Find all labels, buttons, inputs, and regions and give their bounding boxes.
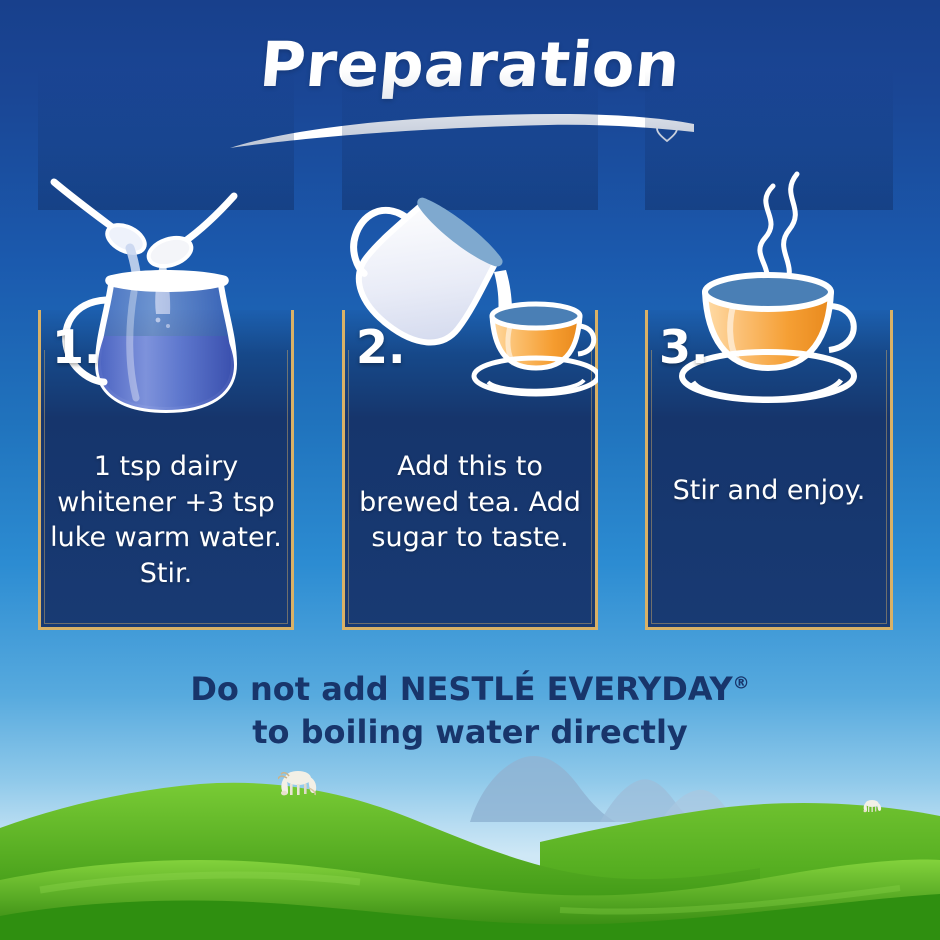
step-2-number: 2. xyxy=(356,320,405,374)
preparation-poster: Preparation xyxy=(0,0,940,940)
warning-prefix: Do not add xyxy=(190,670,399,708)
step-card-3[interactable]: 3. Stir and enjoy. xyxy=(645,160,893,630)
steps-container: 1. 1 tsp dairy whitener +3 tsp luke warm… xyxy=(0,160,940,630)
step-3-number: 3. xyxy=(659,320,708,374)
landscape xyxy=(0,720,940,940)
registered-mark: ® xyxy=(733,673,750,693)
grazing-cow-icon xyxy=(278,766,322,798)
brand-name: NESTLÉ EVERYDAY xyxy=(400,670,733,708)
warning-line-1: Do not add NESTLÉ EVERYDAY® xyxy=(0,668,940,711)
step-2-text: Add this to brewed tea. Add sugar to tas… xyxy=(352,425,588,630)
step-1-number: 1. xyxy=(52,320,101,374)
grazing-cow-icon xyxy=(862,797,884,814)
step-card-1[interactable]: 1. 1 tsp dairy whitener +3 tsp luke warm… xyxy=(38,160,294,630)
jug-with-spoons-icon xyxy=(38,160,294,420)
step-card-2[interactable]: 2. Add this to brewed tea. Add sugar to … xyxy=(342,160,598,630)
pouring-milk-into-teacup-icon xyxy=(342,160,598,420)
green-rolling-hills-icon xyxy=(0,770,940,940)
step-3-text: Stir and enjoy. xyxy=(655,425,883,630)
steaming-teacup-icon xyxy=(645,160,893,420)
step-1-text: 1 tsp dairy whitener +3 tsp luke warm wa… xyxy=(48,425,284,630)
